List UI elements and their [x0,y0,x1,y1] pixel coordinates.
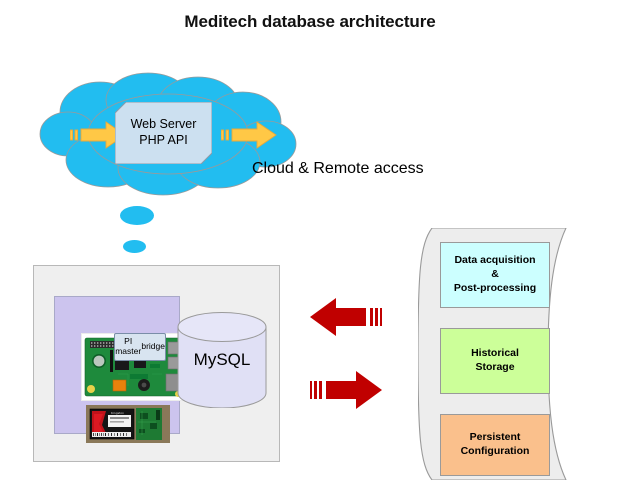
svg-text:Kingston: Kingston [111,411,124,415]
storage-box-1-line2: Storage [475,361,514,375]
web-server-line1: Web Server [131,117,197,133]
persistent-configuration-box: Persistent Configuration [440,414,550,476]
data-acquisition-box: Data acquisition & Post-processing [440,242,550,308]
pi-callout-line1: PI master [115,337,141,356]
pi-callout-line2: bridge [141,342,165,352]
storage-panel: Data acquisition & Post-processing Histo… [418,228,588,480]
cloud-bubble-small-icon [123,240,146,253]
storage-box-2-line1: Persistent [470,431,521,445]
device-inner-panel: PI master bridge Kingston [54,296,180,434]
pi-master-bridge-callout: PI master bridge [114,333,166,361]
web-server-box: Web Server PHP API [115,102,212,164]
page-title: Meditech database architecture [0,12,620,32]
storage-box-2-line2: Configuration [461,445,530,459]
mysql-database-cylinder: MySQL [176,312,268,408]
storage-box-1-line1: Historical [471,347,519,361]
diagram-canvas: Meditech database architecture [0,0,620,490]
storage-box-0-line3: Post-processing [454,282,536,296]
cloud-outbound-arrow [221,120,279,150]
storage-box-0-line2: & [491,268,499,282]
cloud-bubble-large-icon [120,206,154,225]
cloud-access-label: Cloud & Remote access [252,160,424,178]
web-server-line2: PHP API [139,133,187,149]
web-server-label: Web Server PHP API [115,102,212,164]
mysql-label: MySQL [176,312,268,408]
kingston-ssd-photo: Kingston [86,405,170,443]
arrow-right-red [310,368,382,412]
storage-box-0-line1: Data acquisition [454,254,535,268]
historical-storage-box: Historical Storage [440,328,550,394]
arrow-left-red [310,295,382,339]
